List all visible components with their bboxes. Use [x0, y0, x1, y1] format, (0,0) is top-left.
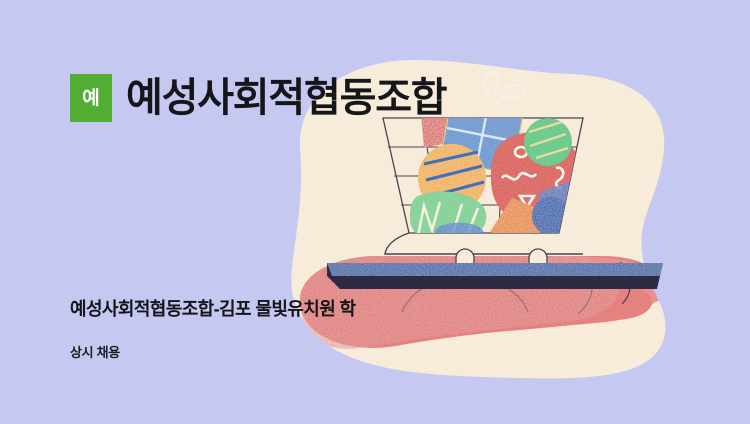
posting-meta: 상시 채용 — [70, 342, 120, 361]
circle-green — [524, 118, 572, 166]
brand-row: 예 예성사회적협동조합 — [70, 74, 446, 122]
company-badge: 예 — [70, 74, 112, 122]
company-badge-label: 예 — [82, 89, 99, 108]
job-posting-banner: 예 예성사회적협동조합 예성사회적협동조합-김포 물빛유치원 학 상시 채용 — [0, 0, 750, 424]
company-title: 예성사회적협동조합 — [126, 78, 446, 118]
posting-subtitle: 예성사회적협동조합-김포 물빛유치원 학 — [70, 295, 356, 321]
